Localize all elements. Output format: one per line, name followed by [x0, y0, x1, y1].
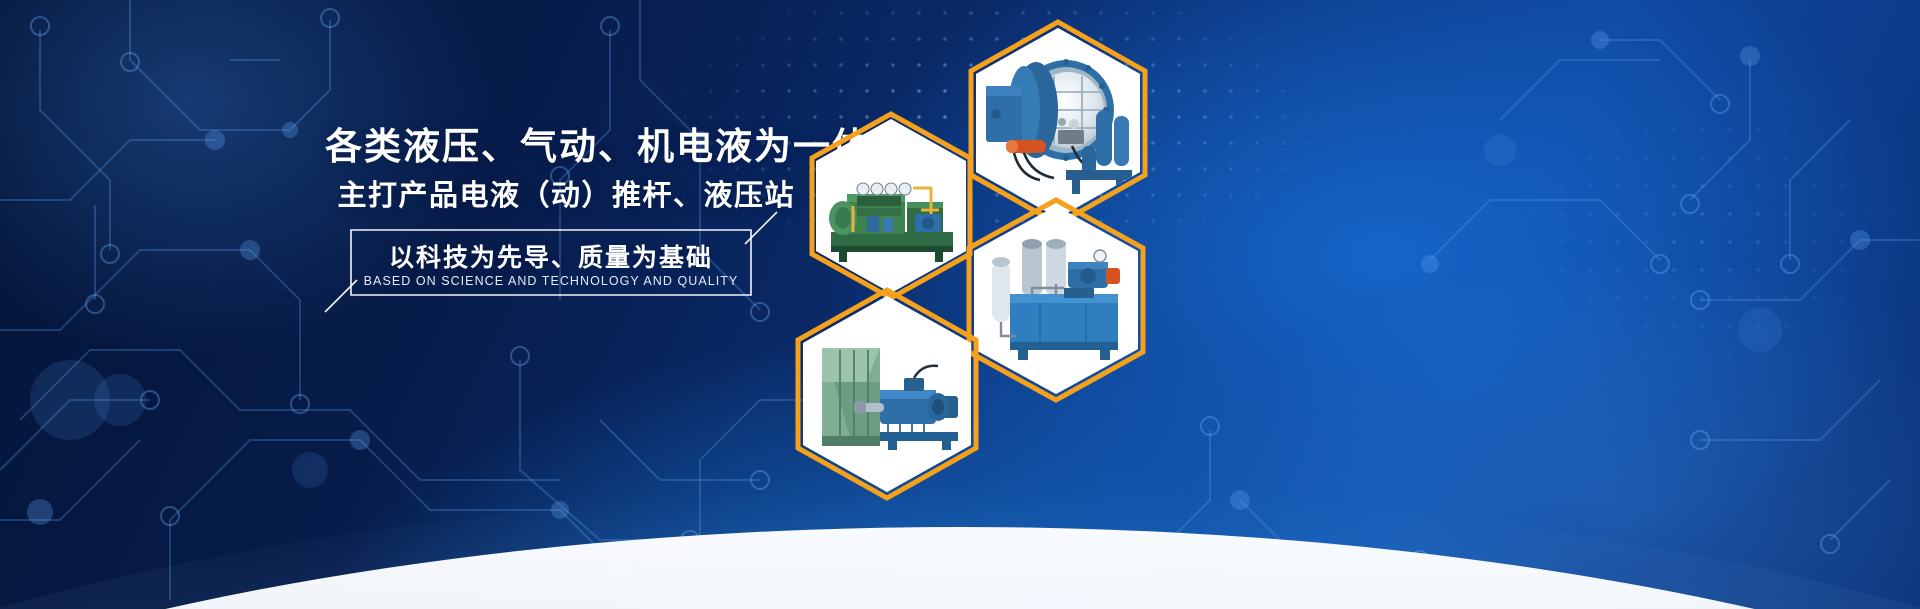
slogan-chinese: 以科技为先导、质量为基础 [349, 238, 753, 274]
slogan-box: 以科技为先导、质量为基础 BASED ON SCIENCE AND TECHNO… [349, 228, 753, 297]
headline-block: 各类液压、气动、机电液为一体 主打产品电液（动）推杆、液压站 [325, 126, 795, 213]
slogan-english: BASED ON SCIENCE AND TECHNOLOGY AND QUAL… [349, 274, 753, 288]
hexagon-pump-station[interactable]: 液压泵站 [803, 110, 979, 302]
hexagon-hydraulic-unit[interactable]: 液压站 [960, 196, 1152, 404]
hexagon-electric-pusher[interactable]: 电液动推杆 [788, 286, 986, 502]
headline-line-1: 各类液压、气动、机电液为一体 [325, 126, 795, 169]
hero-banner: 各类液压、气动、机电液为一体 主打产品电液（动）推杆、液压站 以科技为先导、质量… [0, 0, 1920, 609]
headline-line-2: 主打产品电液（动）推杆、液压站 [325, 180, 795, 213]
